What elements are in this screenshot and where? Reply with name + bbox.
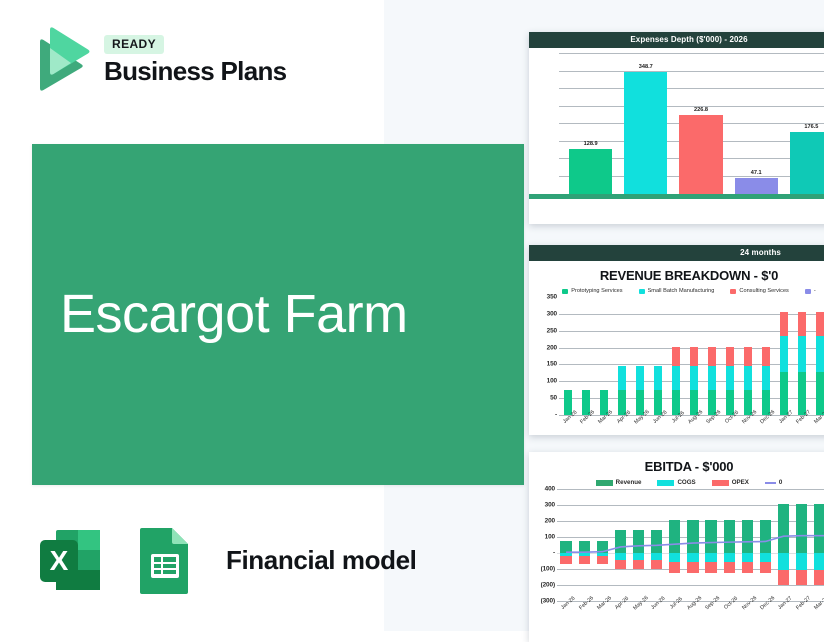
y-tick-label: 250: [547, 327, 557, 334]
bar-column: [703, 297, 721, 415]
x-tick: Jan-26: [559, 415, 577, 435]
y-tick-label: 300: [545, 502, 555, 509]
bar-value-label: 47.1: [751, 170, 762, 176]
bar-segment: [742, 520, 753, 553]
stacked-bar: [780, 312, 788, 415]
bar-value-label: 128.9: [584, 141, 598, 147]
footer-row: X Financial model: [30, 520, 417, 600]
bar-segment: [724, 520, 735, 553]
bar-value-label: 226.8: [694, 107, 708, 113]
legend-item: 0: [765, 479, 782, 486]
revenue-legend: Prototyping ServicesSmall Batch Manufact…: [529, 285, 824, 295]
bar-segment: [816, 312, 824, 336]
legend-swatch: [639, 289, 645, 294]
ebitda-bars: [557, 489, 824, 601]
bar: [735, 178, 778, 194]
stacked-bar: [654, 366, 662, 415]
bar-segment: [669, 520, 680, 553]
bar-segment: [651, 553, 662, 560]
bar-segment: [560, 541, 571, 553]
bar-segment: [760, 562, 771, 573]
bar-segment: [708, 366, 716, 390]
bar-column: [793, 489, 811, 601]
y-tick-label: 300: [547, 310, 557, 317]
legend-swatch: [562, 289, 568, 294]
bar-column: [793, 297, 811, 415]
legend-swatch: [765, 482, 776, 484]
bar-column: [667, 297, 685, 415]
chart-card-expenses: Expenses Depth ($'000) - 2026 128.9348.7…: [529, 32, 824, 224]
y-tick-label: 200: [545, 518, 555, 525]
bar-segment: [778, 570, 789, 585]
stacked-bar: [762, 347, 770, 415]
bar: [569, 149, 612, 194]
bar-segment: [669, 562, 680, 573]
bar-segment: [762, 366, 770, 390]
bar-segment: [798, 372, 806, 415]
bar-segment: [708, 347, 716, 367]
bar-column: 348.7: [618, 54, 673, 194]
bar-column: [630, 489, 648, 601]
bar-segment: [597, 556, 608, 564]
revenue-strip-label: 24 months: [529, 245, 824, 261]
x-tick: Jan-26: [557, 601, 575, 635]
chart-card-revenue-breakdown: 24 months REVENUE BREAKDOWN - $'0 Protot…: [529, 245, 824, 435]
legend-item: Consulting Services: [730, 288, 788, 294]
play-triangles-logo-icon: [28, 26, 90, 92]
bar-segment: [633, 560, 644, 569]
bar-segment: [579, 541, 590, 553]
bar: [624, 72, 667, 194]
bar-segment: [814, 553, 824, 570]
slide-canvas: READY Business Plans Escargot Farm X: [0, 0, 824, 631]
bar-column: 128.9: [563, 54, 618, 194]
bar-column: 226.8: [673, 54, 728, 194]
legend-label: COGS: [677, 479, 695, 486]
page-title: Escargot Farm: [32, 286, 408, 343]
y-tick-label: 50: [550, 395, 557, 402]
bar-segment: [669, 553, 680, 562]
revenue-plot: 35030025020015010050-: [533, 297, 824, 415]
revenue-x-axis-labels: Jan-26Feb-26Mar-26Apr-26May-26Jun-26Jul-…: [533, 415, 824, 435]
legend-swatch: [805, 289, 811, 294]
bar-column: [757, 297, 775, 415]
bar-column: [649, 297, 667, 415]
bar-column: [720, 489, 738, 601]
expenses-plot: 128.9348.7226.847.1176.5: [533, 54, 824, 194]
legend-item: Small Batch Manufacturing: [639, 288, 715, 294]
bar-segment: [687, 520, 698, 553]
bar-segment: [742, 553, 753, 562]
bar-column: [611, 489, 629, 601]
brand-name: Business Plans: [104, 58, 286, 84]
y-tick-label: 200: [547, 344, 557, 351]
revenue-y-axis-labels: 35030025020015010050-: [533, 297, 559, 415]
y-tick-label: 400: [545, 486, 555, 493]
expenses-strip-label: Expenses Depth ($'000) - 2026: [529, 32, 824, 48]
bar-segment: [796, 570, 807, 585]
bar-column: [631, 297, 649, 415]
bar-value-label: 348.7: [639, 64, 653, 70]
legend-swatch: [596, 480, 613, 486]
bar-segment: [690, 347, 698, 367]
bar-segment: [690, 366, 698, 390]
legend-item: -: [805, 288, 816, 294]
bar-segment: [651, 530, 662, 553]
legend-label: 0: [779, 479, 782, 486]
stacked-bar: [672, 347, 680, 415]
legend-label: Prototyping Services: [571, 288, 622, 294]
y-tick-label: 100: [547, 378, 557, 385]
bar-column: [577, 297, 595, 415]
bar-segment: [742, 562, 753, 573]
bar-column: [738, 489, 756, 601]
bar-segment: [762, 347, 770, 367]
bar-segment: [651, 560, 662, 569]
bar-segment: [796, 553, 807, 570]
bar-segment: [724, 562, 735, 573]
bar-segment: [778, 553, 789, 570]
y-tick-label: -: [553, 550, 555, 557]
ebitda-chart-title: EBITDA - $'000: [529, 452, 824, 476]
bar-column: [775, 489, 793, 601]
bar-column: [721, 297, 739, 415]
bar-column: 47.1: [729, 54, 784, 194]
bar-segment: [798, 312, 806, 336]
stacked-bar: [744, 347, 752, 415]
bar-segment: [705, 562, 716, 573]
y-tick-label: 350: [547, 294, 557, 301]
bar-column: [593, 489, 611, 601]
bar-segment: [780, 336, 788, 371]
stacked-bar: [708, 347, 716, 415]
brand-lockup: READY Business Plans: [28, 26, 286, 92]
bar-segment: [633, 530, 644, 553]
bar-column: [575, 489, 593, 601]
bar-segment: [724, 553, 735, 562]
bar-column: [811, 489, 824, 601]
legend-swatch: [730, 289, 736, 294]
footer-label: Financial model: [226, 545, 417, 576]
bar: [790, 132, 824, 194]
bar-segment: [615, 560, 626, 569]
legend-label: -: [814, 288, 816, 294]
y-tick-label: (200): [541, 582, 555, 589]
bar-segment: [726, 366, 734, 390]
bar-column: [613, 297, 631, 415]
bar-segment: [798, 336, 806, 371]
bar-segment: [672, 366, 680, 390]
svg-text:X: X: [50, 545, 69, 576]
stacked-bar: [798, 312, 806, 415]
bar-column: [666, 489, 684, 601]
bar-column: 176.5: [784, 54, 824, 194]
bar-segment: [726, 347, 734, 367]
google-sheets-icon[interactable]: [124, 520, 204, 600]
ebitda-plot: 400300200100-(100)(200)(300): [531, 489, 824, 601]
bar-segment: [816, 372, 824, 415]
bar-segment: [615, 553, 626, 560]
stacked-bar: [816, 312, 824, 415]
bar-segment: [796, 504, 807, 553]
title-banner: Escargot Farm: [32, 144, 524, 485]
bar-segment: [778, 504, 789, 553]
bar-column: [702, 489, 720, 601]
expenses-bars: 128.9348.7226.847.1176.5: [559, 54, 824, 194]
revenue-bars: [559, 297, 824, 415]
y-tick-label: (100): [541, 566, 555, 573]
bar-column: [775, 297, 793, 415]
bar-segment: [687, 553, 698, 562]
bar-segment: [687, 562, 698, 573]
bar-segment: [744, 347, 752, 367]
bar-segment: [705, 553, 716, 562]
bar-segment: [618, 366, 626, 390]
bar-segment: [636, 366, 644, 390]
bar-column: [685, 297, 703, 415]
bar-column: [739, 297, 757, 415]
y-tick-label: 150: [547, 361, 557, 368]
legend-label: Small Batch Manufacturing: [648, 288, 715, 294]
ebitda-x-axis-labels: Jan-26Feb-26Mar-26Apr-26May-26Jun-26Jul-…: [531, 601, 824, 635]
ready-badge: READY: [104, 35, 164, 54]
ebitda-y-axis-labels: 400300200100-(100)(200)(300): [531, 489, 557, 601]
legend-label: OPEX: [732, 479, 749, 486]
bar-segment: [560, 556, 571, 564]
bar-value-label: 176.5: [804, 124, 818, 130]
bar-segment: [672, 347, 680, 367]
legend-item: Prototyping Services: [562, 288, 622, 294]
bar-segment: [814, 570, 824, 585]
bar-column: [595, 297, 613, 415]
bar-segment: [654, 366, 662, 390]
bar-column: [648, 489, 666, 601]
bar-segment: [816, 336, 824, 371]
bar-segment: [579, 556, 590, 564]
bar-segment: [615, 530, 626, 553]
legend-swatch: [657, 480, 674, 486]
chart-card-ebitda: EBITDA - $'000 RevenueCOGSOPEX0 40030020…: [529, 452, 824, 642]
legend-item: COGS: [657, 479, 695, 486]
legend-label: Consulting Services: [739, 288, 788, 294]
legend-label: Revenue: [616, 479, 642, 486]
microsoft-excel-icon[interactable]: X: [30, 520, 110, 600]
stacked-bar: [690, 347, 698, 415]
bar-segment: [633, 553, 644, 560]
stacked-bar: [726, 347, 734, 415]
bar-segment: [760, 520, 771, 553]
bar-segment: [780, 372, 788, 415]
bar: [679, 115, 722, 194]
bar-column: [684, 489, 702, 601]
bar-segment: [705, 520, 716, 553]
legend-item: Revenue: [596, 479, 642, 486]
bar-column: [811, 297, 824, 415]
legend-item: OPEX: [712, 479, 749, 486]
bar-segment: [744, 366, 752, 390]
bar-segment: [760, 553, 771, 562]
bar-segment: [780, 312, 788, 336]
revenue-chart-title: REVENUE BREAKDOWN - $'0: [529, 261, 824, 285]
bar-column: [756, 489, 774, 601]
y-tick-label: 100: [545, 534, 555, 541]
stacked-bar: [636, 366, 644, 415]
ebitda-legend: RevenueCOGSOPEX0: [529, 476, 824, 487]
bar-segment: [814, 504, 824, 553]
bar-column: [557, 489, 575, 601]
expenses-baseline-rule: [529, 194, 824, 199]
bar-column: [559, 297, 577, 415]
legend-swatch: [712, 480, 729, 486]
stacked-bar: [618, 366, 626, 415]
bar-segment: [597, 541, 608, 553]
